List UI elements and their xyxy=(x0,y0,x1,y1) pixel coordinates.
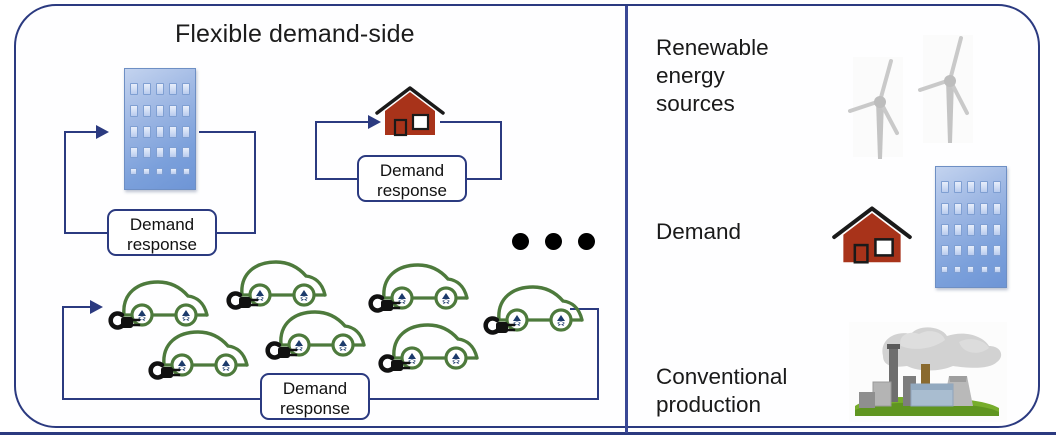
demand-response-box-building[interactable]: Demand response xyxy=(107,209,217,256)
figure-canvas: Flexible demand-side Demand response Dem… xyxy=(0,0,1056,441)
house-loop-wire-right xyxy=(500,121,502,180)
building-loop-wire-in xyxy=(64,131,98,133)
ellipsis-dots xyxy=(512,233,595,250)
ev-loop-wire-bottom-left xyxy=(62,398,266,400)
power-plant-icon xyxy=(849,322,1007,422)
ev-loop-wire-bottom-right xyxy=(357,398,599,400)
demand-response-box-house[interactable]: Demand response xyxy=(357,155,467,202)
ev-loop-wire-right xyxy=(597,308,599,400)
demand-response-line2: response xyxy=(109,235,215,255)
legend-label-renewable-energy-sources: Renewable energy sources xyxy=(656,34,769,118)
demand-response-line2: response xyxy=(359,181,465,201)
dot-1 xyxy=(512,233,529,250)
ev-loop-wire-left xyxy=(62,306,64,400)
electric-vehicle-icon xyxy=(148,325,258,381)
building-loop-wire-out xyxy=(199,131,256,133)
house-loop-wire-out xyxy=(440,121,502,123)
house-icon xyxy=(373,85,447,140)
frame-baseline xyxy=(0,432,1056,435)
panel-divider xyxy=(625,6,628,433)
electric-vehicle-icon xyxy=(265,305,375,361)
house-loop-wire-bottom-left xyxy=(315,178,362,180)
legend-label-demand: Demand xyxy=(656,218,741,246)
wind-turbine-icon xyxy=(845,55,915,165)
apartment-building-icon xyxy=(935,166,1007,288)
house-loop-wire-in xyxy=(315,121,370,123)
demand-response-line2: response xyxy=(262,399,368,419)
electric-vehicle-icon xyxy=(108,275,218,331)
building-loop-wire-right xyxy=(254,131,256,234)
apartment-building-icon xyxy=(124,68,196,190)
dot-3 xyxy=(578,233,595,250)
electric-vehicle-icon xyxy=(226,255,336,311)
dot-2 xyxy=(545,233,562,250)
building-loop-wire-left xyxy=(64,131,66,234)
building-loop-wire-bottom-left xyxy=(64,232,111,234)
house-icon xyxy=(828,205,916,268)
building-loop-wire-bottom-right xyxy=(213,232,256,234)
building-arrowhead-icon xyxy=(96,125,109,139)
electric-vehicle-icon xyxy=(483,280,593,336)
house-loop-wire-left xyxy=(315,121,317,180)
wind-turbine-icon xyxy=(915,33,985,148)
legend-label-conventional-production: Conventional production xyxy=(656,363,787,419)
demand-response-line1: Demand xyxy=(262,379,368,399)
ev-arrowhead-icon xyxy=(90,300,103,314)
demand-response-line1: Demand xyxy=(109,215,215,235)
electric-vehicle-icon xyxy=(368,258,478,314)
house-loop-wire-bottom-right xyxy=(462,178,502,180)
ev-loop-wire-in xyxy=(62,306,92,308)
demand-response-line1: Demand xyxy=(359,161,465,181)
demand-response-box-ev[interactable]: Demand response xyxy=(260,373,370,420)
electric-vehicle-icon xyxy=(378,318,488,374)
left-panel-title: Flexible demand-side xyxy=(175,20,415,49)
